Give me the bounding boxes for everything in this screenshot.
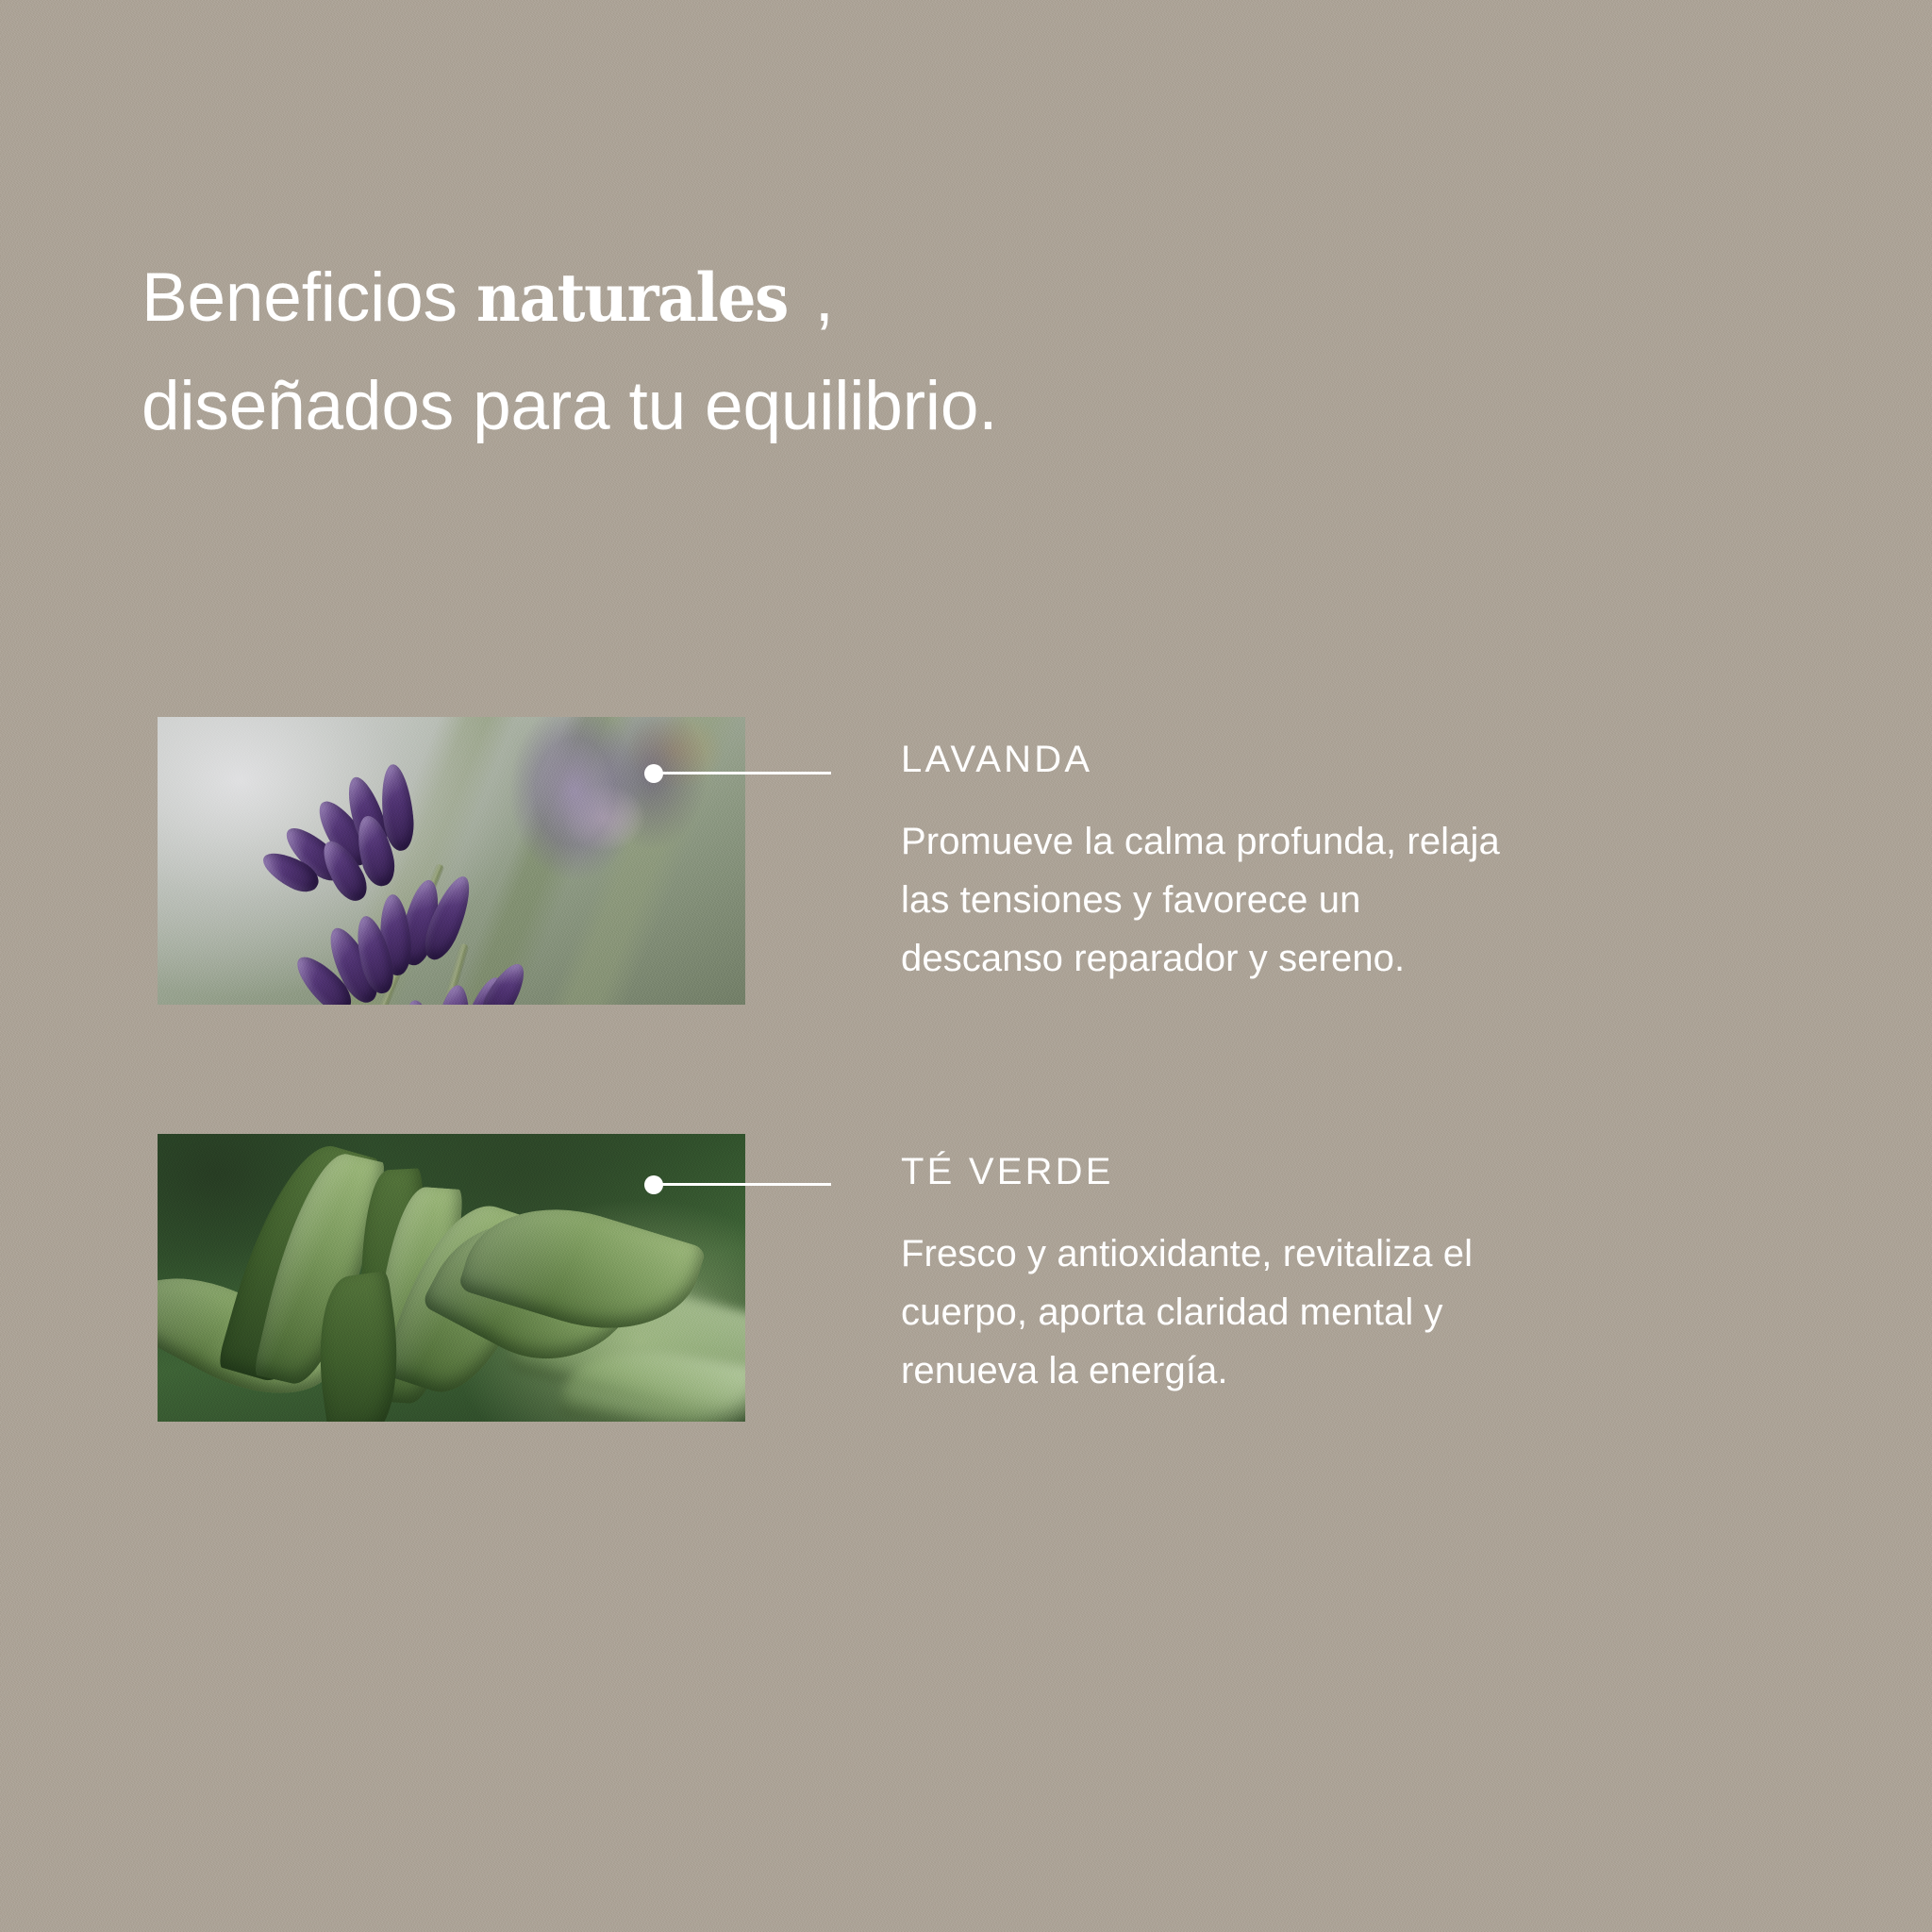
description-line: renueva la energía. [901,1341,1473,1400]
headline-line-1: Beneficios naturales, [142,243,1509,352]
benefit-description-lavanda: Promueve la calma profunda, relaja las t… [901,812,1500,988]
headline-text-after: , [815,259,834,336]
benefit-image-lavanda [158,717,745,1005]
description-line: Fresco y antioxidante, revitaliza el [901,1224,1473,1283]
headline-text-before: Beneficios [142,259,476,336]
benefit-title-lavanda: LAVANDA [901,741,1500,778]
headline-accent-word: naturales [476,243,788,352]
connector-line [654,772,831,774]
page-title: Beneficios naturales, diseñados para tu … [142,243,1509,460]
description-line: las tensiones y favorece un [901,871,1500,929]
headline-line-2: diseñados para tu equilibrio. [142,352,1509,460]
benefit-description-te-verde: Fresco y antioxidante, revitaliza el cue… [901,1224,1473,1400]
benefit-copy-te-verde: TÉ VERDE Fresco y antioxidante, revitali… [901,1153,1473,1400]
description-line: Promueve la calma profunda, relaja [901,812,1500,871]
benefit-copy-lavanda: LAVANDA Promueve la calma profunda, rela… [901,741,1500,988]
benefit-title-te-verde: TÉ VERDE [901,1153,1473,1191]
connector-line [654,1183,831,1186]
lavender-flower-photo [158,717,745,1005]
description-line: descanso reparador y sereno. [901,929,1500,988]
description-line: cuerpo, aporta claridad mental y [901,1283,1473,1341]
